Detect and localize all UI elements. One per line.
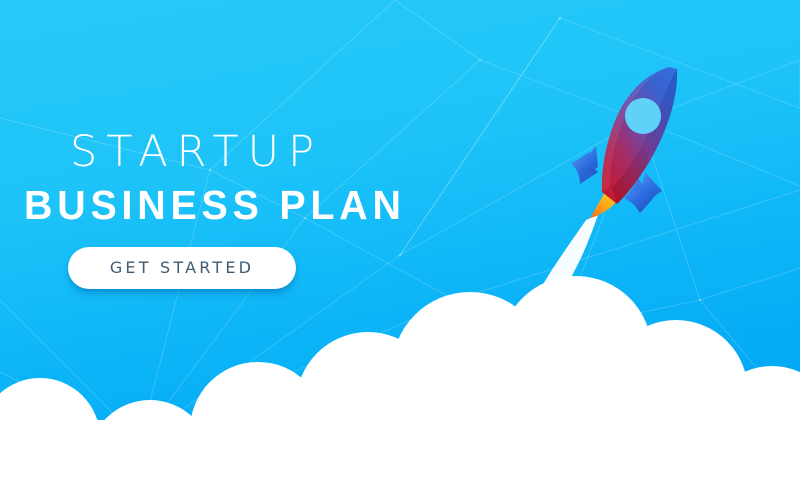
startup-business-plan-banner: STARTUP BUSINESS PLAN GET STARTED: [0, 0, 800, 480]
headline-block: STARTUP BUSINESS PLAN: [0, 128, 420, 228]
cta-container: GET STARTED: [68, 247, 296, 289]
page-title-line2: BUSINESS PLAN: [0, 182, 403, 228]
get-started-button[interactable]: GET STARTED: [68, 247, 296, 289]
page-title-line1: STARTUP: [0, 128, 420, 176]
background-network-lines: [0, 0, 800, 480]
